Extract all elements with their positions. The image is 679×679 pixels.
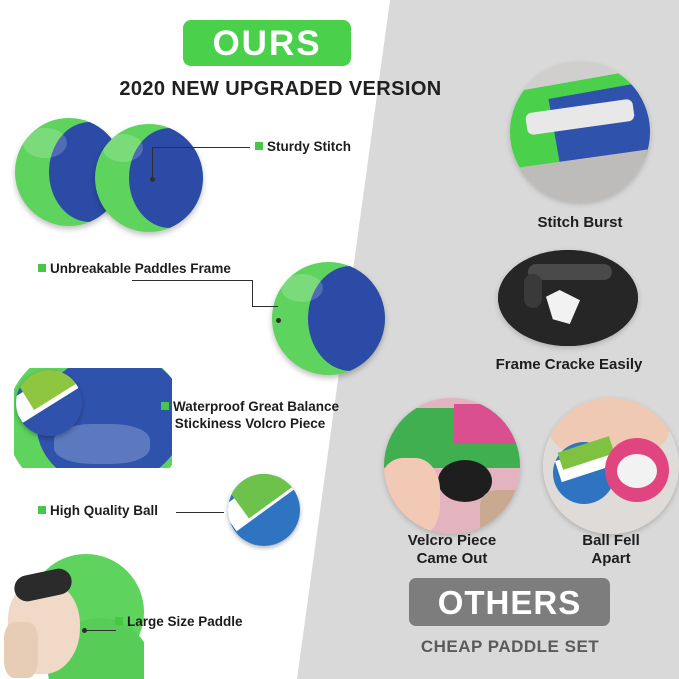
photo-frame-cracke-easily bbox=[498, 250, 638, 346]
ball-standalone bbox=[228, 474, 300, 546]
photo-label-velcro-piece-came-out: Velcro Piece Came Out bbox=[378, 532, 526, 568]
photo-stitch-burst bbox=[510, 62, 650, 202]
ball-on-paddle bbox=[16, 370, 82, 436]
callout-large-size-paddle-label: Large Size Paddle bbox=[127, 614, 243, 629]
others-badge: OTHERS bbox=[409, 578, 610, 626]
leader-line-high-quality-ball bbox=[176, 512, 224, 513]
paddle-top-right bbox=[95, 124, 203, 232]
bullet-square-icon bbox=[38, 506, 46, 514]
photo-label-frame-cracke-easily: Frame Cracke Easily bbox=[455, 356, 679, 374]
others-subtitle: CHEAP PADDLE SET bbox=[390, 637, 630, 657]
leader-line-sturdy-stitch bbox=[152, 147, 250, 148]
leader-line-large-size-paddle bbox=[86, 630, 116, 631]
leader-line-unbreakable-frame-vert bbox=[252, 280, 253, 306]
photo-velcro-piece-came-out bbox=[384, 398, 520, 534]
callout-large-size-paddle: Large Size Paddle bbox=[115, 614, 243, 631]
ours-subtitle: 2020 NEW UPGRADED VERSION bbox=[108, 78, 453, 101]
photo-label-stitch-burst: Stitch Burst bbox=[500, 214, 660, 232]
ours-badge-label: OURS bbox=[212, 26, 321, 61]
comparison-infographic: OURS 2020 NEW UPGRADED VERSION Sturdy St… bbox=[0, 0, 679, 679]
bullet-square-icon bbox=[161, 402, 169, 410]
callout-unbreakable-frame-label: Unbreakable Paddles Frame bbox=[50, 261, 231, 276]
ours-badge: OURS bbox=[183, 20, 351, 66]
callout-unbreakable-frame: Unbreakable Paddles Frame bbox=[38, 261, 231, 278]
callout-high-quality-ball-label: High Quality Ball bbox=[50, 503, 158, 518]
callout-waterproof-velcro: Waterproof Great Balance Stickiness Volc… bbox=[152, 399, 348, 433]
callout-sturdy-stitch: Sturdy Stitch bbox=[255, 139, 351, 156]
paddle-sheen bbox=[23, 128, 67, 158]
callout-sturdy-stitch-label: Sturdy Stitch bbox=[267, 139, 351, 154]
leader-line-sturdy-stitch-vert bbox=[152, 147, 153, 179]
leader-line-unbreakable-frame2 bbox=[252, 306, 278, 307]
leader-line-unbreakable-frame bbox=[132, 280, 252, 281]
callout-high-quality-ball: High Quality Ball bbox=[38, 503, 158, 520]
callout-waterproof-velcro-label: Waterproof Great Balance Stickiness Volc… bbox=[173, 399, 339, 431]
leader-dot-large-size-paddle bbox=[82, 628, 87, 633]
bullet-square-icon bbox=[38, 264, 46, 272]
others-badge-label: OTHERS bbox=[438, 586, 582, 619]
bullet-square-icon bbox=[255, 142, 263, 150]
paddle-middle bbox=[272, 262, 385, 375]
paddle-sheen bbox=[281, 274, 323, 302]
leader-dot-unbreakable-frame bbox=[276, 318, 281, 323]
photo-ball-fell-apart bbox=[543, 398, 679, 534]
photo-label-ball-fell-apart: Ball Fell Apart bbox=[540, 532, 679, 568]
paddle-sheen bbox=[103, 134, 143, 162]
leader-dot-sturdy-stitch bbox=[150, 177, 155, 182]
bullet-square-icon bbox=[115, 617, 123, 625]
